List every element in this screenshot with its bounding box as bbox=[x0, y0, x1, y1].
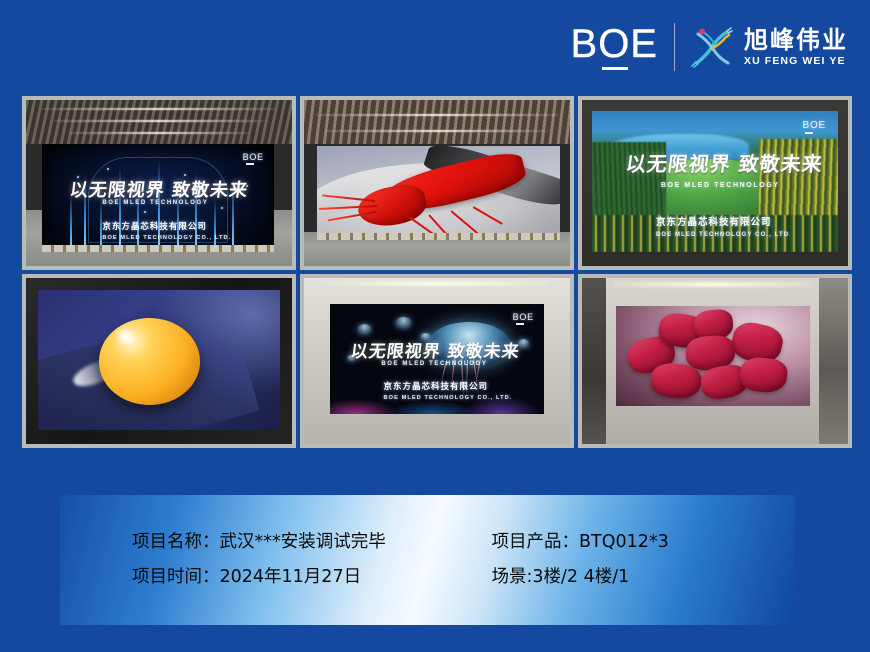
ceiling bbox=[26, 100, 292, 144]
led-screen: BOE 以无限视界 致敬未来 BOE MLED TECHNOLOGY 京东方晶芯… bbox=[42, 144, 274, 252]
led-boe-badge-text: BOE bbox=[243, 152, 264, 162]
led-company-cn: 京东方晶芯科技有限公司 bbox=[656, 214, 772, 228]
logo-divider bbox=[674, 23, 675, 71]
led-company-en: BOE MLED TECHNOLOGY CO., LTD. bbox=[384, 395, 513, 401]
ceiling-light bbox=[325, 130, 548, 132]
photo-1-content: BOE 以无限视界 致敬未来 BOE MLED TECHNOLOGY 京东方晶芯… bbox=[26, 100, 292, 266]
led-base-trim bbox=[42, 245, 274, 252]
meat-piece bbox=[739, 356, 788, 394]
partner-name-cn: 旭峰伟业 bbox=[744, 28, 848, 53]
led-slogan: 以无限视界 致敬未来 bbox=[350, 337, 522, 362]
photo-led-wall-meat[interactable] bbox=[578, 274, 852, 448]
mini-jellyfish bbox=[396, 317, 411, 328]
led-boe-badge: BOE bbox=[243, 152, 264, 165]
led-screen: BOE 以无限视界 致敬未来 BOE MLED TECHNOLOGY 京东方晶芯… bbox=[330, 304, 544, 414]
led-boe-badge-text: BOE bbox=[513, 312, 534, 322]
photo-led-wall-landscape[interactable]: BOE 以无限视界 致敬未来 BOE MLED TECHNOLOGY 京东方晶芯… bbox=[578, 96, 852, 270]
boe-logo-text: BOE bbox=[571, 24, 658, 64]
project-date-text: 项目时间：2024年11月27日 bbox=[132, 568, 464, 587]
led-boe-badge-text: BOE bbox=[802, 120, 826, 131]
xu-feng-wei-ye-crane-icon bbox=[689, 25, 735, 69]
led-slogan-sub: BOE MLED TECHNOLOGY bbox=[661, 182, 780, 189]
led-boe-badge: BOE bbox=[802, 120, 826, 134]
ceiling-light bbox=[325, 281, 548, 286]
photo-2-content bbox=[304, 100, 570, 266]
led-company-en: BOE MLED TECHNOLOGY CO., LTD. bbox=[102, 235, 231, 241]
led-base-trim bbox=[317, 233, 560, 240]
header-bar: BOE 旭峰伟业 XU FENG WEI YE bbox=[0, 0, 870, 92]
led-boe-badge: BOE bbox=[513, 312, 534, 325]
led-dot bbox=[221, 207, 223, 209]
logo-lockup: BOE 旭峰伟业 XU FENG WEI YE bbox=[571, 18, 848, 76]
yellow-sphere-graphic bbox=[99, 318, 201, 405]
ceiling-light bbox=[42, 108, 276, 110]
led-dot bbox=[144, 211, 146, 213]
led-company-cn: 京东方晶芯科技有限公司 bbox=[384, 380, 489, 392]
led-beam bbox=[214, 198, 216, 252]
ceiling bbox=[304, 100, 570, 144]
photo-4-content bbox=[26, 278, 292, 444]
photo-led-wall-lobster[interactable] bbox=[300, 96, 574, 270]
project-info-banner: 项目名称：武汉***安装调试完毕 项目产品：BTQ012*3 项目时间：2024… bbox=[60, 495, 795, 625]
ceiling-light bbox=[53, 120, 266, 122]
led-slogan: 以无限视界 致敬未来 bbox=[68, 176, 249, 202]
photo-led-wall-tech-blue[interactable]: BOE 以无限视界 致敬未来 BOE MLED TECHNOLOGY 京东方晶芯… bbox=[22, 96, 296, 270]
led-screen bbox=[38, 290, 280, 430]
sphere-highlight bbox=[113, 328, 137, 345]
led-company-cn: 京东方晶芯科技有限公司 bbox=[102, 220, 207, 232]
photo-5-content: BOE 以无限视界 致敬未来 BOE MLED TECHNOLOGY 京东方晶芯… bbox=[304, 278, 570, 444]
project-name-text: 项目名称：武汉***安装调试完毕 bbox=[132, 533, 464, 552]
led-screen bbox=[317, 146, 560, 240]
led-screen: BOE 以无限视界 致敬未来 BOE MLED TECHNOLOGY 京东方晶芯… bbox=[592, 111, 838, 252]
door-right bbox=[819, 278, 848, 444]
boe-logo-underline bbox=[602, 67, 628, 70]
led-company-en: BOE MLED TECHNOLOGY CO., LTD bbox=[656, 232, 789, 238]
mini-jellyfish bbox=[358, 324, 371, 334]
xu-feng-wei-ye-text: 旭峰伟业 XU FENG WEI YE bbox=[744, 28, 848, 67]
led-slogan-sub: BOE MLED TECHNOLOGY bbox=[102, 200, 208, 206]
photo-3-content: BOE 以无限视界 致敬未来 BOE MLED TECHNOLOGY 京东方晶芯… bbox=[582, 100, 848, 266]
ceiling-light bbox=[614, 282, 811, 287]
photo-led-wall-jellyfish[interactable]: BOE 以无限视界 致敬未来 BOE MLED TECHNOLOGY 京东方晶芯… bbox=[300, 274, 574, 448]
project-product-text: 项目产品：BTQ012*3 bbox=[464, 533, 796, 552]
led-slogan-sub: BOE MLED TECHNOLOGY bbox=[381, 361, 487, 367]
boe-logo: BOE bbox=[571, 24, 674, 70]
photo-gallery-grid: BOE 以无限视界 致敬未来 BOE MLED TECHNOLOGY 京东方晶芯… bbox=[22, 96, 852, 448]
partner-name-en: XU FENG WEI YE bbox=[744, 56, 848, 67]
photo-led-wall-yellow-sphere[interactable] bbox=[22, 274, 296, 448]
project-scene-text: 场景:3楼/2 4楼/1 bbox=[464, 568, 796, 587]
led-slogan: 以无限视界 致敬未来 bbox=[625, 148, 826, 177]
door-left bbox=[582, 278, 606, 444]
project-info-grid: 项目名称：武汉***安装调试完毕 项目产品：BTQ012*3 项目时间：2024… bbox=[60, 495, 795, 625]
photo-6-content bbox=[582, 278, 848, 444]
led-screen bbox=[616, 306, 810, 406]
led-dot bbox=[107, 168, 109, 170]
ceiling-light bbox=[315, 114, 560, 116]
ceiling-light bbox=[69, 132, 250, 134]
